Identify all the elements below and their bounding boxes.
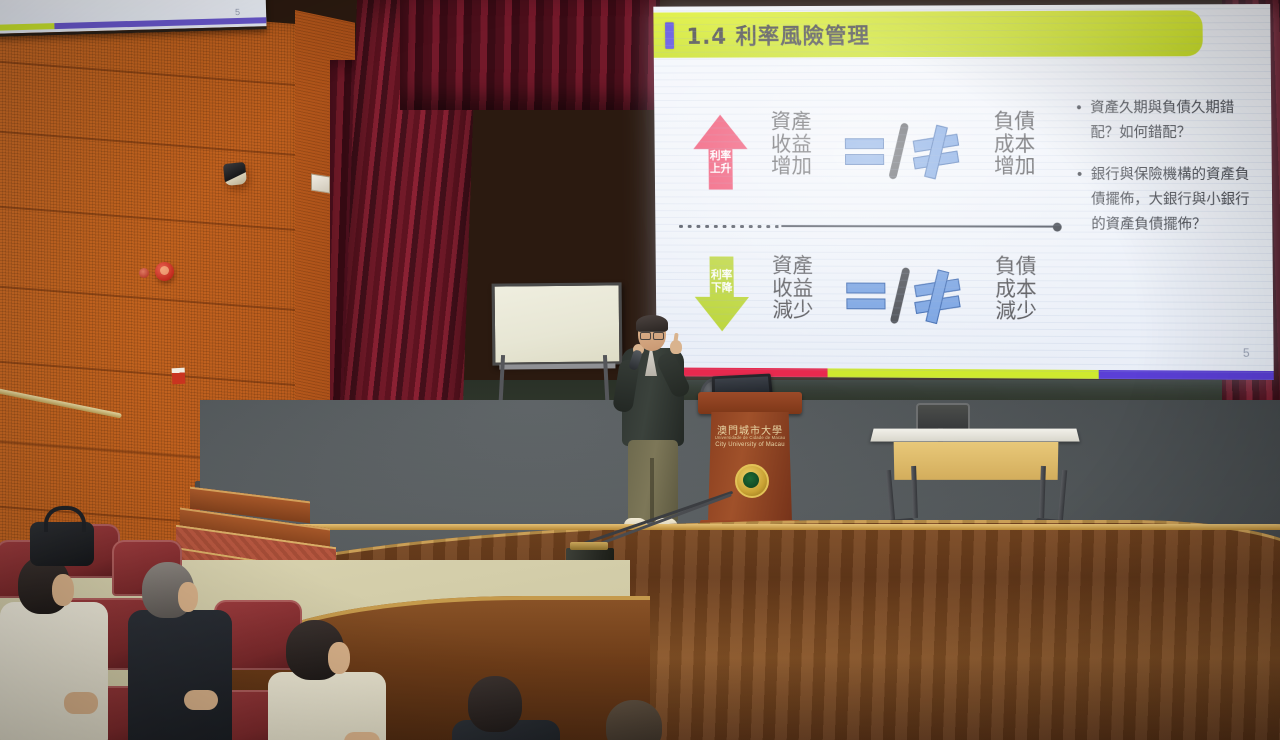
stage-curtain-valance xyxy=(400,0,660,110)
slide-title-band: 1.4 利率風險管理 xyxy=(653,10,1203,57)
relation-symbol-row1 xyxy=(845,122,957,179)
venue-name-english: City University of Macau xyxy=(702,442,798,448)
bullet-text: 銀行與保險機構的資產負債擺佈，大銀行與小銀行的資產負債擺佈？ xyxy=(1091,163,1263,238)
wall-speaker-icon xyxy=(223,162,247,186)
audience-member xyxy=(268,620,388,740)
glasses-icon xyxy=(640,331,664,338)
row-divider xyxy=(677,221,1058,232)
auxiliary-slide-number: 5 xyxy=(235,7,240,17)
venue-name-portuguese: Universidade de Cidade de Macau xyxy=(702,435,798,440)
audience-member xyxy=(452,676,562,740)
relation-symbol-row2 xyxy=(846,267,958,325)
rate-up-arrow-label: 利率上升 xyxy=(693,115,748,190)
bullet-marker-icon: • xyxy=(1077,163,1092,237)
list-item: • 銀行與保險機構的資產負債擺佈，大銀行與小銀行的資產負債擺佈？ xyxy=(1077,163,1263,238)
fire-alarm-bell-icon xyxy=(155,262,174,281)
audience-hands xyxy=(64,692,98,714)
folding-table-apron xyxy=(894,442,1059,480)
bullet-text: 資產久期與負債久期錯配？如何錯配？ xyxy=(1090,96,1261,146)
audience-member xyxy=(6,556,116,740)
slash-icon xyxy=(887,267,913,325)
slash-icon xyxy=(886,122,912,179)
asset-yield-decrease-label: 資產收益減少 xyxy=(764,255,821,322)
audience-head xyxy=(606,700,662,740)
audience-shirt xyxy=(268,672,386,740)
audience-face xyxy=(178,582,198,612)
auxiliary-monitor-footer-bar xyxy=(0,17,266,31)
equals-icon xyxy=(845,133,884,170)
rate-up-arrow-icon: 利率上升 xyxy=(693,115,748,190)
audience-hands xyxy=(344,732,380,740)
audience-member xyxy=(128,562,238,740)
wall-sign xyxy=(172,368,186,385)
audience-shirt xyxy=(0,602,108,740)
lectern-top xyxy=(698,392,802,414)
liability-cost-decrease-label: 負債成本減少 xyxy=(987,255,1045,323)
projected-slide: 1.4 利率風險管理 利率上升 資產收益增加 負債成本增加 利率下降 資產收益減… xyxy=(653,4,1273,380)
university-seal-icon xyxy=(735,464,769,498)
bag-handle xyxy=(44,506,86,532)
slide-bullet-list: • 資產久期與負債久期錯配？如何錯配？ • 銀行與保險機構的資產負債擺佈，大銀行… xyxy=(1076,96,1262,255)
wall-access-plate xyxy=(311,173,330,193)
folding-table-top xyxy=(870,429,1079,442)
lecture-hall-photo: 5 1.4 利率風險管理 利率上升 資產收益增加 負債成本增加 利率下降 資產收… xyxy=(0,0,1280,740)
audience-head xyxy=(468,676,522,732)
rate-down-arrow-icon: 利率下降 xyxy=(694,256,749,331)
slide-title: 1.4 利率風險管理 xyxy=(686,19,870,51)
presenter-trousers xyxy=(628,440,678,522)
audience-face xyxy=(328,642,350,674)
not-equals-icon xyxy=(915,270,959,322)
presenter-hair xyxy=(636,315,668,332)
audience-suit xyxy=(128,610,232,740)
bullet-marker-icon: • xyxy=(1076,96,1090,146)
equals-icon xyxy=(846,277,885,314)
asset-yield-increase-label: 資產收益增加 xyxy=(763,111,820,178)
presenter xyxy=(614,318,692,540)
list-item: • 資產久期與負債久期錯配？如何錯配？ xyxy=(1076,96,1261,146)
not-equals-icon xyxy=(913,125,957,177)
audience-face xyxy=(52,574,74,606)
audience-member xyxy=(596,700,692,740)
whiteboard xyxy=(492,282,623,365)
audience-hands xyxy=(184,690,218,710)
alarm-indicator-light-icon xyxy=(139,268,149,278)
liability-cost-increase-label: 負債成本增加 xyxy=(986,110,1044,178)
title-accent-bar-icon xyxy=(665,22,674,49)
rate-down-arrow-label: 利率下降 xyxy=(694,256,749,331)
audience-bag xyxy=(30,506,100,570)
slide-number: 5 xyxy=(1243,346,1250,360)
